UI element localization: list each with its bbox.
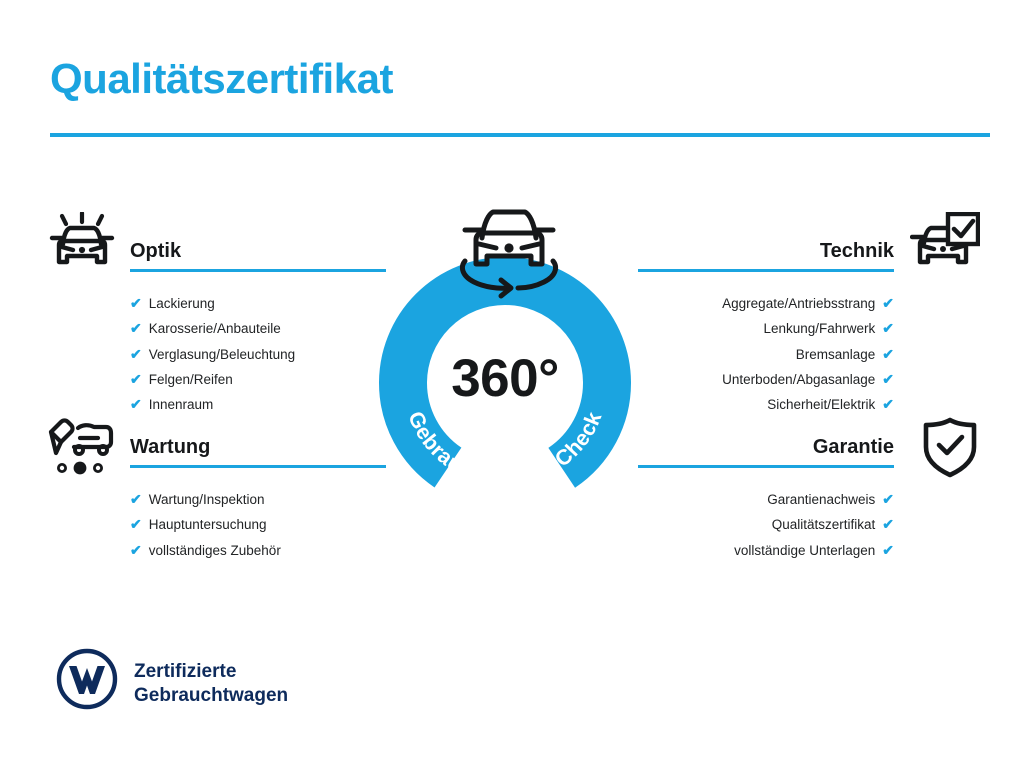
list-item: ✔Karosserie/Anbauteile [130, 316, 386, 341]
list-item-label: vollständige Unterlagen [734, 543, 875, 558]
check-icon: ✔ [130, 320, 142, 336]
section-optik: Optik ✔Lackierung ✔Karosserie/Anbauteile… [130, 238, 386, 417]
car-checkbox-icon [910, 212, 980, 274]
section-heading-garantie: Garantie [638, 434, 894, 461]
list-item-label: Sicherheit/Elektrik [767, 397, 875, 412]
list-item: ✔Wartung/Inspektion [130, 487, 386, 512]
list-item: Lenkung/Fahrwerk✔ [638, 316, 894, 341]
footer-line-1: Zertifizierte [134, 660, 288, 684]
list-item: Bremsanlage✔ [638, 342, 894, 367]
check-icon: ✔ [882, 295, 894, 311]
list-item: ✔vollständiges Zubehör [130, 538, 386, 563]
check-icon: ✔ [882, 371, 894, 387]
volkswagen-logo [56, 648, 118, 710]
footer-line-2: Gebrauchtwagen [134, 684, 288, 708]
list-item: Sicherheit/Elektrik✔ [638, 392, 894, 417]
list-item-label: Qualitätszertifikat [772, 517, 876, 532]
check-icon: ✔ [882, 516, 894, 532]
check-icon: ✔ [882, 491, 894, 507]
check-icon: ✔ [882, 396, 894, 412]
section-divider-wartung [130, 465, 386, 468]
section-divider-technik [638, 269, 894, 272]
section-list-optik: ✔Lackierung ✔Karosserie/Anbauteile ✔Verg… [130, 291, 386, 417]
list-item-label: Karosserie/Anbauteile [149, 321, 281, 336]
list-item: ✔Innenraum [130, 392, 386, 417]
check-icon: ✔ [130, 371, 142, 387]
check-icon: ✔ [130, 295, 142, 311]
check-icon: ✔ [882, 542, 894, 558]
check-icon: ✔ [130, 396, 142, 412]
section-heading-technik: Technik [638, 238, 894, 265]
list-item: ✔Verglasung/Beleuchtung [130, 342, 386, 367]
section-heading-optik: Optik [130, 238, 386, 265]
check-icon: ✔ [882, 346, 894, 362]
list-item: Garantienachweis✔ [638, 487, 894, 512]
list-item-label: Lackierung [149, 296, 215, 311]
list-item-label: Felgen/Reifen [149, 372, 233, 387]
section-divider-garantie [638, 465, 894, 468]
list-item-label: Wartung/Inspektion [149, 492, 265, 507]
page-title: Qualitätszertifikat [50, 55, 393, 103]
list-item-label: Aggregate/Antriebsstrang [722, 296, 875, 311]
section-technik: Technik Aggregate/Antriebsstrang✔ Lenkun… [638, 238, 894, 417]
list-item: vollständige Unterlagen✔ [638, 538, 894, 563]
badge-number: 360° [378, 348, 632, 409]
section-list-garantie: Garantienachweis✔ Qualitätszertifikat✔ v… [638, 487, 894, 563]
check-icon: ✔ [130, 542, 142, 558]
list-item: Qualitätszertifikat✔ [638, 512, 894, 537]
list-item-label: Bremsanlage [796, 347, 876, 362]
section-heading-wartung: Wartung [130, 434, 386, 461]
section-garantie: Garantie Garantienachweis✔ Qualitätszert… [638, 434, 894, 563]
list-item-label: Lenkung/Fahrwerk [763, 321, 875, 336]
list-item-label: vollständiges Zubehör [149, 543, 281, 558]
list-item: ✔Felgen/Reifen [130, 367, 386, 392]
list-item: ✔Hauptuntersuchung [130, 512, 386, 537]
list-item: ✔Lackierung [130, 291, 386, 316]
list-item-label: Innenraum [149, 397, 214, 412]
list-item: Unterboden/Abgasanlage✔ [638, 367, 894, 392]
section-divider-optik [130, 269, 386, 272]
car-rotate-360-icon [452, 198, 566, 302]
car-service-tool-icon [48, 416, 118, 478]
list-item-label: Hauptuntersuchung [149, 517, 267, 532]
certificate-page: Qualitätszertifikat Optik ✔Lackier [0, 0, 1024, 768]
list-item-label: Garantienachweis [767, 492, 875, 507]
section-list-technik: Aggregate/Antriebsstrang✔ Lenkung/Fahrwe… [638, 291, 894, 417]
list-item-label: Verglasung/Beleuchtung [149, 347, 295, 362]
footer-text: Zertifizierte Gebrauchtwagen [134, 660, 288, 708]
check-icon: ✔ [882, 320, 894, 336]
list-item: Aggregate/Antriebsstrang✔ [638, 291, 894, 316]
shield-check-icon [915, 416, 985, 478]
check-icon: ✔ [130, 346, 142, 362]
car-shine-icon [48, 212, 118, 274]
footer-logo-lockup: Zertifizierte Gebrauchtwagen [56, 648, 316, 718]
section-wartung: Wartung ✔Wartung/Inspektion ✔Hauptunters… [130, 434, 386, 563]
check-icon: ✔ [130, 491, 142, 507]
title-divider [50, 133, 990, 137]
section-list-wartung: ✔Wartung/Inspektion ✔Hauptuntersuchung ✔… [130, 487, 386, 563]
check-icon: ✔ [130, 516, 142, 532]
list-item-label: Unterboden/Abgasanlage [722, 372, 875, 387]
